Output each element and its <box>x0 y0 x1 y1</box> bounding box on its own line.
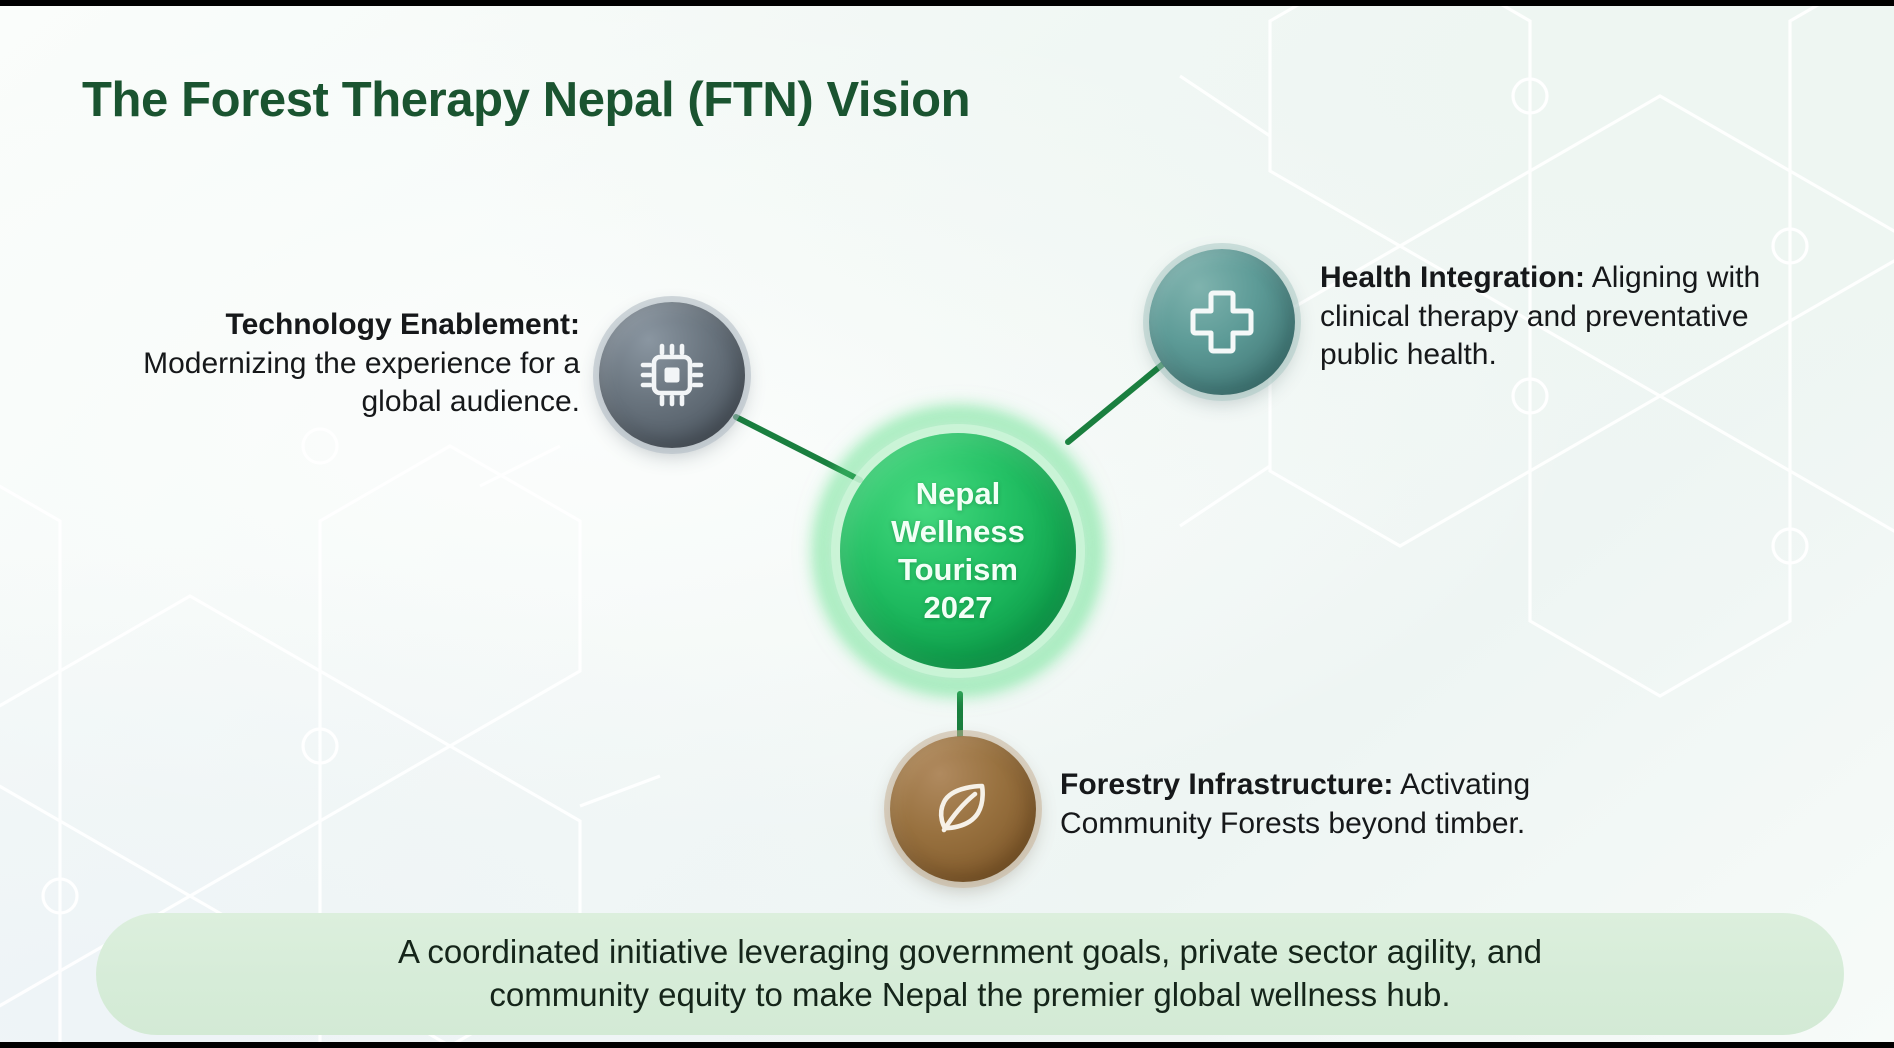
letterbox-bar-bottom <box>0 1042 1894 1048</box>
node-technology[interactable] <box>599 302 745 448</box>
pillar-text-technology: Technology Enablement: Modernizing the e… <box>98 306 580 422</box>
leaf-icon <box>925 771 1001 847</box>
pillar-body-technology: Modernizing the experience for a global … <box>143 347 580 419</box>
letterbox-bar-top <box>0 0 1894 6</box>
slide-stage: The Forest Therapy Nepal (FTN) Vision Ne… <box>0 0 1894 1048</box>
pillar-text-health: Health Integration: Aligning with clinic… <box>1320 259 1790 375</box>
page-title: The Forest Therapy Nepal (FTN) Vision <box>82 72 970 128</box>
chip-icon <box>634 337 710 413</box>
pillar-title-technology: Technology Enablement: <box>226 308 580 341</box>
hub-label: Nepal Wellness Tourism 2027 <box>891 475 1025 626</box>
summary-banner-text: A coordinated initiative leveraging gove… <box>398 931 1542 1017</box>
slide-canvas: The Forest Therapy Nepal (FTN) Vision Ne… <box>0 6 1894 1042</box>
hub-core-circle: Nepal Wellness Tourism 2027 <box>840 433 1076 669</box>
medical-cross-icon <box>1184 284 1260 360</box>
pillar-title-forestry: Forestry Infrastructure: <box>1060 768 1393 801</box>
node-forestry[interactable] <box>890 736 1036 882</box>
pillar-text-forestry: Forestry Infrastructure: Activating Comm… <box>1060 766 1660 843</box>
node-health[interactable] <box>1149 249 1295 395</box>
summary-banner: A coordinated initiative leveraging gove… <box>96 913 1844 1035</box>
hub-node-nepal-wellness-tourism[interactable]: Nepal Wellness Tourism 2027 <box>813 406 1103 696</box>
pillar-title-health: Health Integration: <box>1320 261 1585 294</box>
